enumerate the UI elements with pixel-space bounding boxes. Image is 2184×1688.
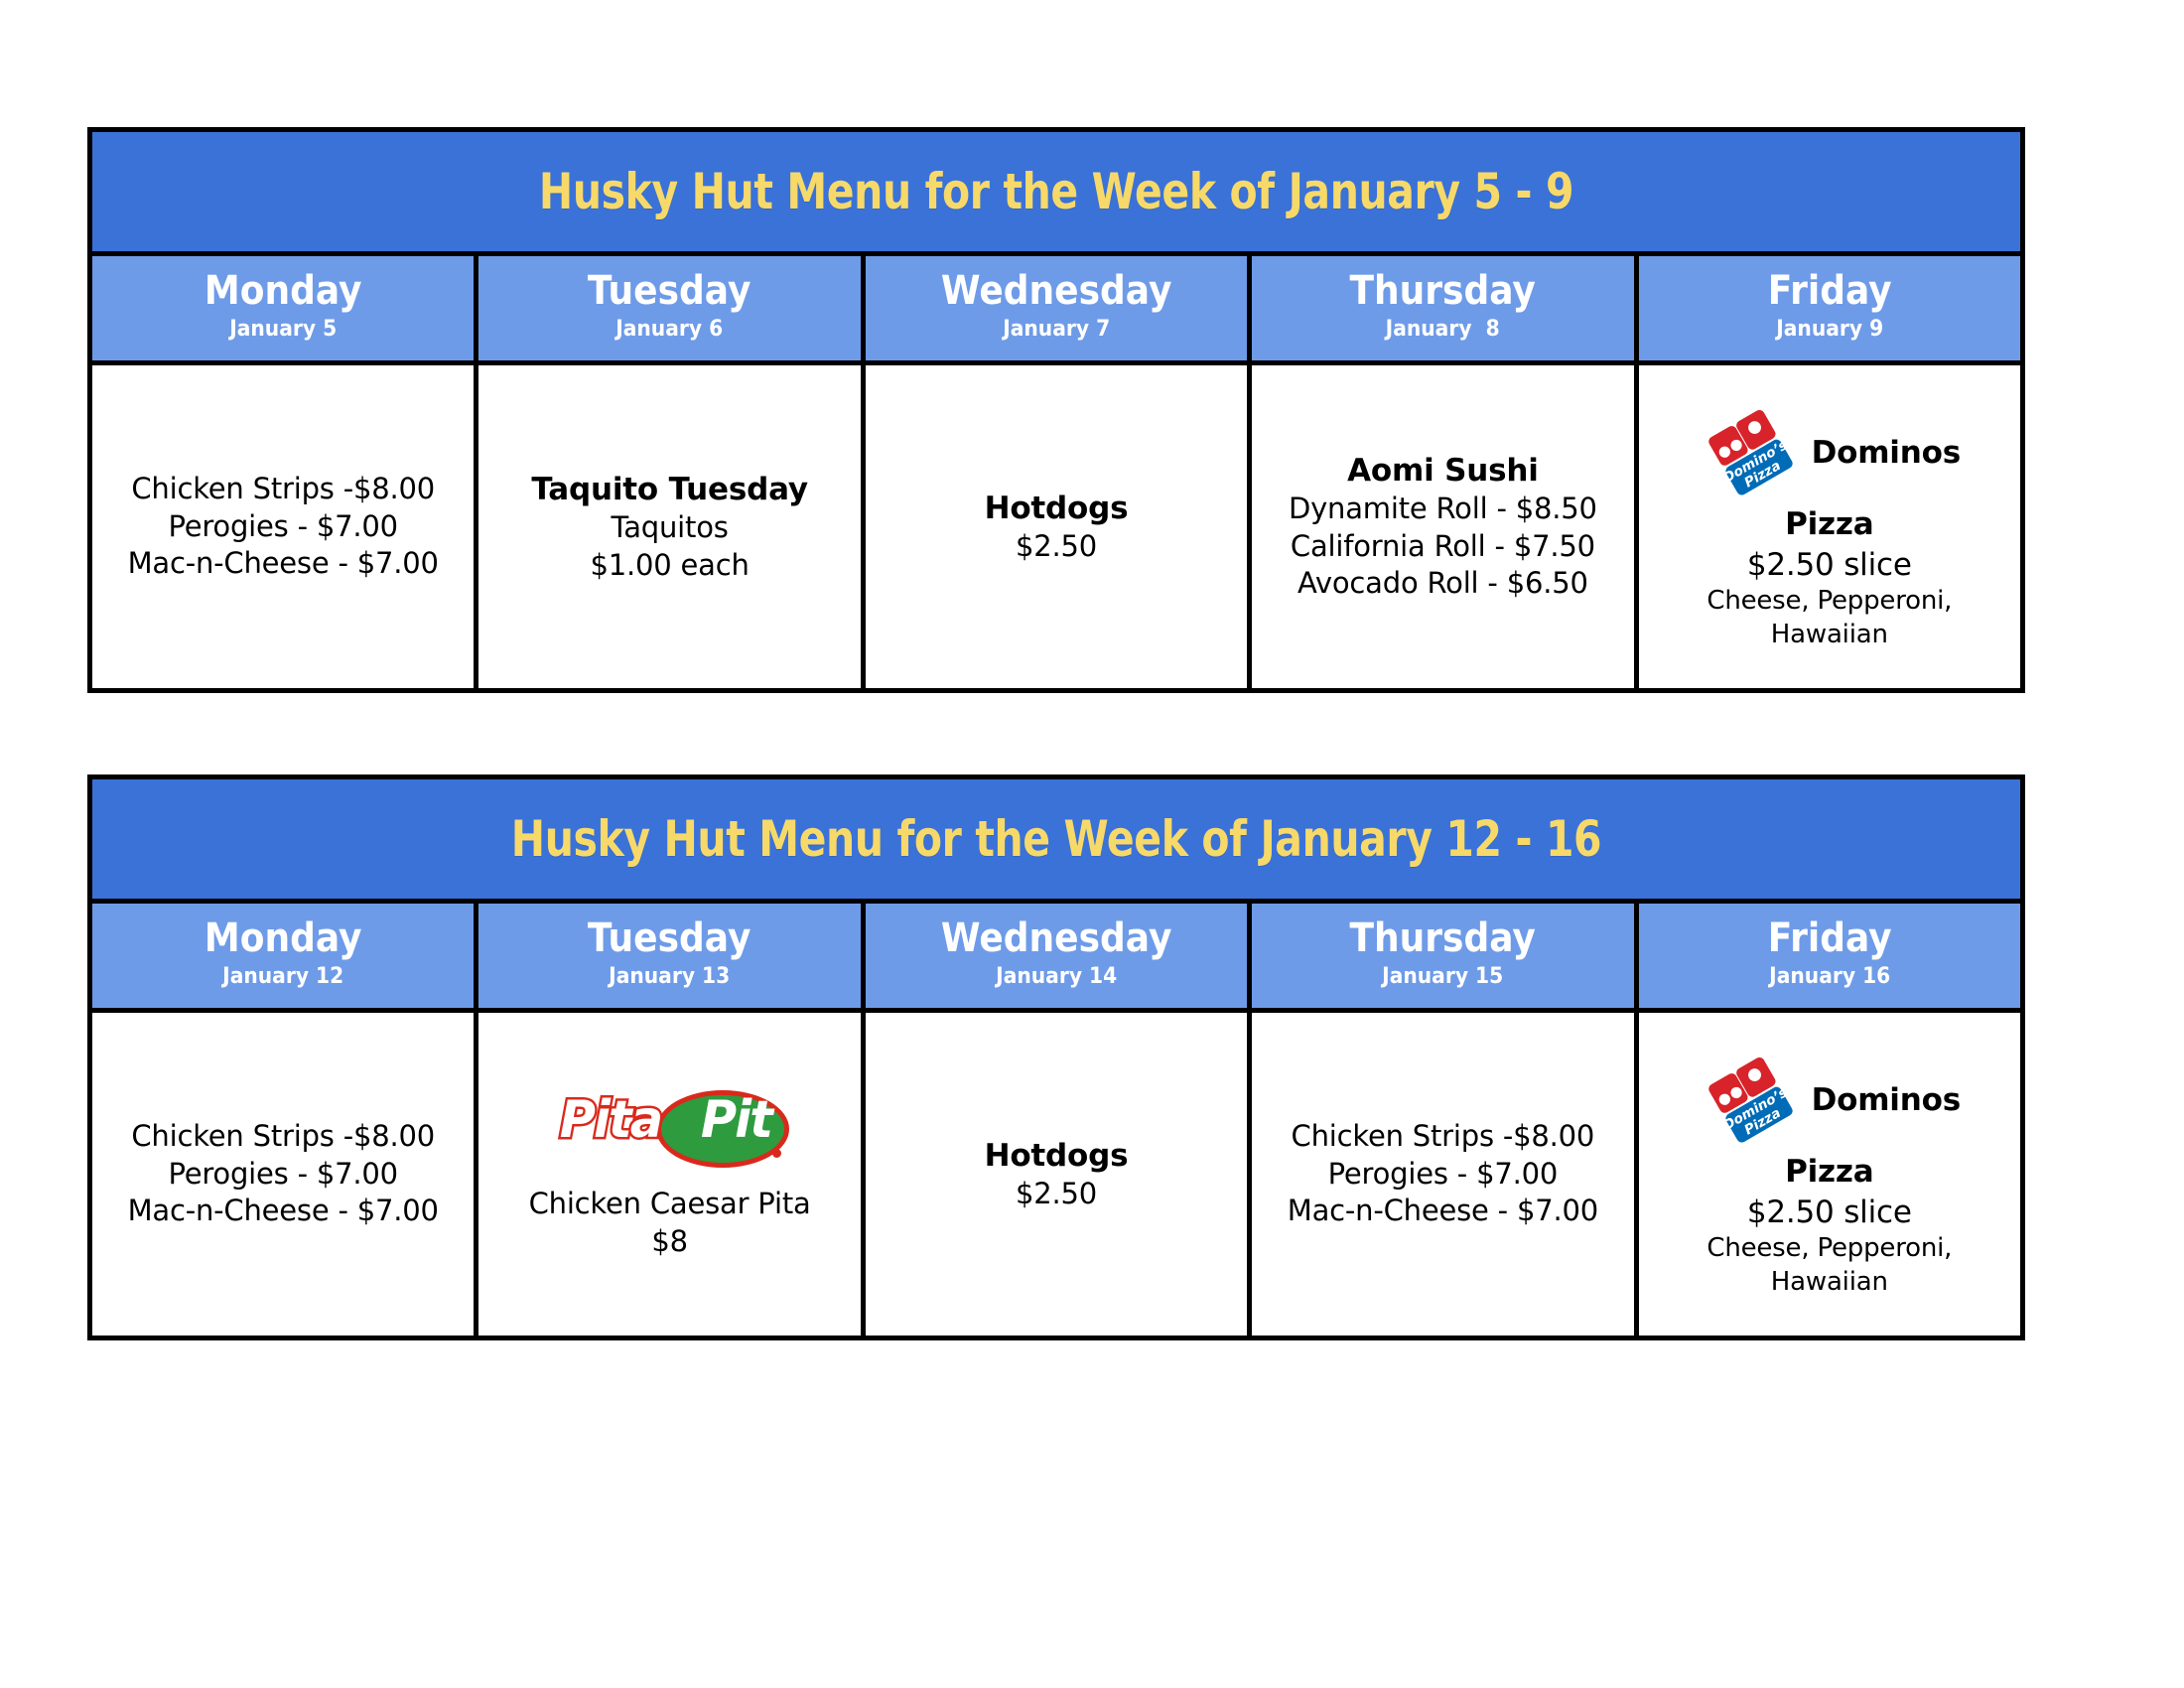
menu-line: Hawaiian xyxy=(1771,619,1888,652)
menu-cell-friday: Domino’sPizzaDominosPizza$2.50 sliceChee… xyxy=(1636,363,2022,691)
day-header-thursday: Thursday January 15 xyxy=(1250,902,1636,1011)
day-name-label: Friday xyxy=(1661,917,1997,959)
menu-line: $2.50 xyxy=(1016,528,1097,566)
menu-line: Perogies - $7.00 xyxy=(168,508,397,546)
menu-line: Taquitos xyxy=(612,509,729,547)
title-row: Husky Hut Menu for the Week of January 5… xyxy=(90,130,2023,254)
day-header-friday: Friday January 9 xyxy=(1636,254,2022,363)
menu-line: Chicken Strips -$8.00 xyxy=(1292,1118,1595,1156)
day-date-label: January 6 xyxy=(497,316,841,344)
day-date-label: January 7 xyxy=(885,316,1228,344)
title-row: Husky Hut Menu for the Week of January 1… xyxy=(90,777,2023,902)
menu-line: Mac-n-Cheese - $7.00 xyxy=(128,545,439,583)
menu-line: Dynamite Roll - $8.50 xyxy=(1289,491,1597,528)
menu-line: Cheese, Pepperoni, xyxy=(1706,1232,1952,1266)
day-name-label: Monday xyxy=(115,270,452,312)
menu-line: $2.50 xyxy=(1016,1176,1097,1213)
menu-title-text: Husky Hut Menu for the Week of January 1… xyxy=(274,810,1839,868)
menu-cell-thursday: Chicken Strips -$8.00Perogies - $7.00Mac… xyxy=(1250,1011,1636,1338)
menu-line: Chicken Caesar Pita xyxy=(529,1186,811,1223)
day-name-label: Wednesday xyxy=(888,270,1225,312)
menu-page: Husky Hut Menu for the Week of January 5… xyxy=(0,0,2184,1688)
pitapit-logo: PitaPit xyxy=(551,1088,789,1172)
menu-table-week-2: Husky Hut Menu for the Week of January 1… xyxy=(87,774,2025,1340)
day-header-tuesday: Tuesday January 13 xyxy=(477,902,863,1011)
menu-line: $2.50 slice xyxy=(1747,1193,1912,1232)
dominos-logo-icon: Domino’sPizza xyxy=(1699,1049,1802,1152)
menu-line: Mac-n-Cheese - $7.00 xyxy=(1288,1193,1598,1230)
menu-title-bar: Husky Hut Menu for the Week of January 1… xyxy=(90,777,2023,902)
menu-cell-friday: Domino’sPizzaDominosPizza$2.50 sliceChee… xyxy=(1636,1011,2022,1338)
menu-title-text: Husky Hut Menu for the Week of January 5… xyxy=(274,163,1839,220)
day-header-tuesday: Tuesday January 6 xyxy=(477,254,863,363)
menu-cell-wednesday: Hotdogs$2.50 xyxy=(863,1011,1249,1338)
menu-body-row: Chicken Strips -$8.00Perogies - $7.00Mac… xyxy=(90,1011,2023,1338)
pitapit-dot xyxy=(772,1149,781,1158)
day-date-label: January 5 xyxy=(111,316,455,344)
day-header-thursday: Thursday January 8 xyxy=(1250,254,1636,363)
menu-cell-wednesday: Hotdogs$2.50 xyxy=(863,363,1249,691)
day-header-monday: Monday January 12 xyxy=(90,902,477,1011)
menu-cell-tuesday: PitaPitChicken Caesar Pita$8 xyxy=(477,1011,863,1338)
dominos-logo: Domino’sPizza xyxy=(1699,1049,1802,1152)
menu-line: $2.50 slice xyxy=(1747,545,1912,585)
menu-line: Perogies - $7.00 xyxy=(168,1156,397,1194)
day-header-wednesday: Wednesday January 14 xyxy=(863,902,1249,1011)
menu-cell-tuesday: Taquito TuesdayTaquitos$1.00 each xyxy=(477,363,863,691)
menu-cell-thursday: Aomi SushiDynamite Roll - $8.50Californi… xyxy=(1250,363,1636,691)
menu-line: Hawaiian xyxy=(1771,1266,1888,1300)
day-name-label: Tuesday xyxy=(501,270,838,312)
menu-cell-monday: Chicken Strips -$8.00Perogies - $7.00Mac… xyxy=(90,363,477,691)
menu-line: Mac-n-Cheese - $7.00 xyxy=(128,1193,439,1230)
menu-line: Avocado Roll - $6.50 xyxy=(1297,565,1588,603)
day-header-row: Monday January 5 Tuesday January 6 Wedne… xyxy=(90,254,2023,363)
day-header-wednesday: Wednesday January 7 xyxy=(863,254,1249,363)
menu-body-row: Chicken Strips -$8.00Perogies - $7.00Mac… xyxy=(90,363,2023,691)
menu-line: Dominos xyxy=(1812,1080,1961,1120)
day-date-label: January 9 xyxy=(1658,316,2001,344)
day-date-label: January 16 xyxy=(1658,963,2001,991)
menu-cell-monday: Chicken Strips -$8.00Perogies - $7.00Mac… xyxy=(90,1011,477,1338)
day-name-label: Thursday xyxy=(1275,270,1611,312)
menu-line: Perogies - $7.00 xyxy=(1328,1156,1558,1194)
menu-line: Hotdogs xyxy=(985,489,1129,528)
day-header-friday: Friday January 16 xyxy=(1636,902,2022,1011)
day-header-monday: Monday January 5 xyxy=(90,254,477,363)
day-date-label: January 12 xyxy=(111,963,455,991)
day-name-label: Tuesday xyxy=(501,917,838,959)
day-date-label: January 13 xyxy=(497,963,841,991)
menu-title-bar: Husky Hut Menu for the Week of January 5… xyxy=(90,130,2023,254)
menu-line: $8 xyxy=(651,1223,688,1261)
menu-line: $1.00 each xyxy=(590,547,749,585)
menu-line: Pizza xyxy=(1785,504,1873,544)
menu-line: Cheese, Pepperoni, xyxy=(1706,585,1952,619)
day-name-label: Friday xyxy=(1661,270,1997,312)
dominos-header-row: Domino’sPizzaDominos xyxy=(1699,1049,1961,1152)
menu-line: Chicken Strips -$8.00 xyxy=(131,1118,435,1156)
pitapit-word-pita: Pita xyxy=(559,1094,660,1146)
dominos-logo: Domino’sPizza xyxy=(1699,401,1802,504)
day-name-label: Wednesday xyxy=(888,917,1225,959)
menu-line: Taquito Tuesday xyxy=(531,470,808,509)
menu-table-week-1: Husky Hut Menu for the Week of January 5… xyxy=(87,127,2025,693)
pitapit-word-pit: Pit xyxy=(701,1094,771,1146)
dominos-logo-icon: Domino’sPizza xyxy=(1699,401,1802,504)
day-date-label: January 8 xyxy=(1271,316,1614,344)
table-spacer xyxy=(87,693,2025,774)
menu-line: Pizza xyxy=(1785,1152,1873,1192)
menu-line: Aomi Sushi xyxy=(1347,451,1539,491)
day-header-row: Monday January 12 Tuesday January 13 Wed… xyxy=(90,902,2023,1011)
dominos-header-row: Domino’sPizzaDominos xyxy=(1699,401,1961,504)
menu-line: California Roll - $7.50 xyxy=(1291,528,1595,566)
menu-line: Chicken Strips -$8.00 xyxy=(131,471,435,508)
day-date-label: January 15 xyxy=(1271,963,1614,991)
menu-line: Hotdogs xyxy=(985,1136,1129,1176)
day-date-label: January 14 xyxy=(885,963,1228,991)
day-name-label: Thursday xyxy=(1275,917,1611,959)
day-name-label: Monday xyxy=(115,917,452,959)
menu-line: Dominos xyxy=(1812,433,1961,473)
